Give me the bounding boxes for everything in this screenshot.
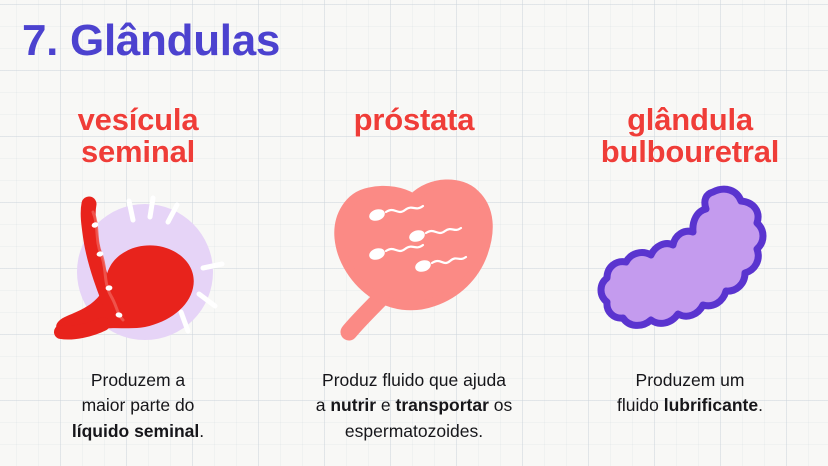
caption-line-2-post: os bbox=[489, 395, 512, 415]
heading-prostata: próstata bbox=[276, 104, 552, 136]
caption-line-1: Produzem a bbox=[91, 370, 185, 390]
caption-bold-term: líquido seminal bbox=[72, 421, 199, 441]
bulbourethral-gland-illustration bbox=[552, 178, 828, 348]
caption-line-2: maior parte do bbox=[82, 395, 195, 415]
seminal-vesicle-illustration bbox=[0, 184, 276, 354]
page-title: 7. Glândulas bbox=[22, 16, 280, 65]
organ-shape bbox=[601, 189, 763, 325]
caption-bold-term: lubrificante bbox=[664, 395, 758, 415]
slide-canvas: 7. Glândulas vesícula seminal bbox=[0, 0, 828, 466]
heading-glandula-bulbouretral: glândula bulbouretral bbox=[552, 104, 828, 168]
caption-line-3: espermatozoides. bbox=[345, 421, 483, 441]
heading-line-1: glândula bbox=[627, 102, 753, 137]
column-prostata: próstata bbox=[276, 104, 552, 466]
caption-line-1: Produz fluido que ajuda bbox=[322, 370, 506, 390]
caption-vesicula-seminal: Produzem a maior parte do líquido semina… bbox=[0, 368, 276, 444]
heading-line-1: próstata bbox=[354, 102, 475, 137]
column-vesicula-seminal: vesícula seminal bbox=[0, 104, 276, 466]
caption-bold-term-2: transportar bbox=[396, 395, 489, 415]
caption-line-2-pre: fluido bbox=[617, 395, 664, 415]
heading-line-1: vesícula bbox=[78, 102, 199, 137]
heading-line-2: bulbouretral bbox=[601, 134, 779, 169]
prostate-illustration bbox=[276, 176, 552, 346]
caption-line-2-mid: e bbox=[376, 395, 395, 415]
heading-line-2: seminal bbox=[81, 134, 195, 169]
caption-line-1: Produzem um bbox=[636, 370, 745, 390]
caption-bold-term-1: nutrir bbox=[330, 395, 376, 415]
caption-period: . bbox=[758, 395, 763, 415]
caption-prostata: Produz fluido que ajuda a nutrir e trans… bbox=[276, 368, 552, 444]
caption-period: . bbox=[199, 421, 204, 441]
caption-glandula-bulbouretral: Produzem um fluido lubrificante. bbox=[552, 368, 828, 419]
caption-line-2-pre: a bbox=[316, 395, 331, 415]
column-glandula-bulbouretral: glândula bulbouretral Produzem um fluido… bbox=[552, 104, 828, 466]
heading-vesicula-seminal: vesícula seminal bbox=[0, 104, 276, 168]
